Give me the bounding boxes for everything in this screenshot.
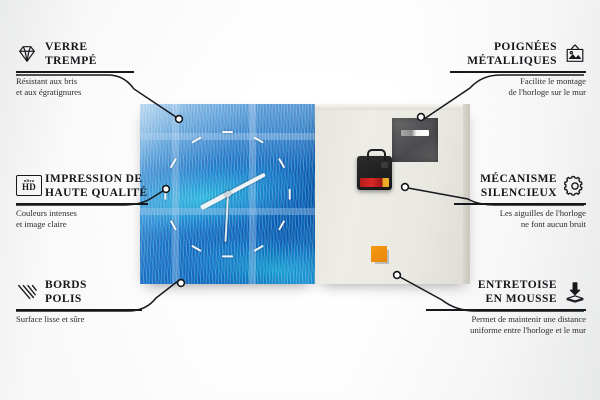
hanger-slot <box>401 130 429 136</box>
callout-title-line2: TREMPÉ <box>45 55 97 67</box>
callout-verre-trempe: VERRE TREMPÉ Résistant aux bris et aux é… <box>16 40 134 98</box>
callout-title-line2: POLIS <box>45 293 82 305</box>
clock-tick <box>222 255 233 257</box>
clock-front-panel <box>140 104 315 284</box>
callout-rule <box>16 71 134 73</box>
mechanism-chip <box>381 162 388 168</box>
callout-title-line1: BORDS <box>45 279 87 291</box>
callout-rule <box>426 309 586 311</box>
callout-subtitle-line2: et image claire <box>16 219 67 229</box>
callout-mecanisme-silencieux: MÉCANISME SILENCIEUX Les aiguilles de l'… <box>454 172 586 230</box>
callout-title-line1: MÉCANISME <box>480 173 557 185</box>
callout-subtitle-line1: Surface lisse et sûre <box>16 314 85 324</box>
orange-foam-spacer <box>371 246 387 262</box>
clock-tick <box>288 189 290 200</box>
callout-rule <box>450 71 586 73</box>
callout-subtitle-line1: Permet de maintenir une distance <box>471 314 586 324</box>
metal-hanger-plate <box>392 118 438 162</box>
callout-title-line2: HAUTE QUALITÉ <box>45 187 148 199</box>
callout-title-line1: POIGNÉES <box>494 41 557 53</box>
ultra-hd-icon-large-text: HD <box>22 183 36 192</box>
callout-rule <box>16 309 142 311</box>
callout-bords-polis: BORDS POLIS Surface lisse et sûre <box>16 278 142 325</box>
picture-hanger-icon <box>564 43 586 65</box>
panel-top-edge <box>315 104 470 110</box>
callout-subtitle-line1: Les aiguilles de l'horloge <box>500 208 586 218</box>
callout-rule <box>16 203 148 205</box>
callout-subtitle-line2: de l'horloge sur le mur <box>509 87 586 97</box>
callout-subtitle-line1: Résistant aux bris <box>16 76 77 86</box>
product-illustration <box>140 104 470 284</box>
foam-spacer-icon <box>564 281 586 303</box>
quartz-mechanism <box>357 156 392 190</box>
clock-back-panel <box>315 104 470 284</box>
callout-rule <box>454 203 586 205</box>
callout-entretoise-en-mousse: ENTRETOISE EN MOUSSE Permet de maintenir… <box>426 278 586 336</box>
callout-subtitle-line1: Couleurs intenses <box>16 208 77 218</box>
gear-icon <box>564 175 586 197</box>
callout-subtitle-line1: Facilite le montage <box>520 76 586 86</box>
callout-title-line1: ENTRETOISE <box>478 279 557 291</box>
callout-subtitle-line2: uniforme entre l'horloge et le mur <box>470 325 586 335</box>
callout-subtitle-line2: et aux égratignures <box>16 87 81 97</box>
callout-title-line2: EN MOUSSE <box>486 293 557 305</box>
glass-sheen <box>140 104 315 172</box>
callout-title-line1: IMPRESSION DE <box>45 173 143 185</box>
polished-edges-icon <box>16 281 38 303</box>
aa-battery <box>360 178 389 187</box>
callout-subtitle-line2: ne font aucun bruit <box>521 219 586 229</box>
mechanism-hanging-loop <box>367 149 386 160</box>
diamond-icon <box>16 43 38 65</box>
callout-title-line2: MÉTALLIQUES <box>467 55 557 67</box>
callout-poignees-metalliques: POIGNÉES MÉTALLIQUES Facilite le montage… <box>450 40 586 98</box>
callout-impression-haute-qualite: ultra HD IMPRESSION DE HAUTE QUALITÉ Cou… <box>16 172 148 230</box>
clock-center-cap <box>225 191 231 197</box>
callout-title-line1: VERRE <box>45 41 88 53</box>
callout-title-line2: SILENCIEUX <box>481 187 557 199</box>
ultra-hd-icon: ultra HD <box>16 175 38 197</box>
infographic-canvas: VERRE TREMPÉ Résistant aux bris et aux é… <box>0 0 600 400</box>
